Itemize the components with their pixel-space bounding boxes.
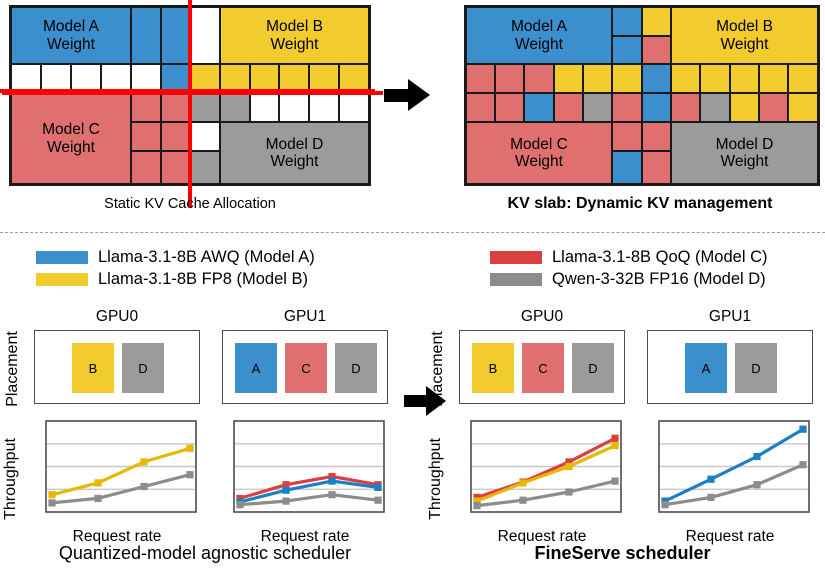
- placed-model-d: D: [735, 343, 777, 393]
- figure-root: Model AWeightModel BWeightModel CWeightM…: [0, 0, 825, 575]
- weight-block-line1: Model C: [42, 121, 100, 138]
- kv-cell: [279, 93, 309, 122]
- weight-block-line1: Model A: [511, 18, 567, 35]
- kv-cell: [612, 64, 642, 93]
- legend-label: Llama-3.1-8B QoQ (Model C): [552, 248, 768, 267]
- legend-swatch: [36, 273, 88, 286]
- kv-cell: [131, 122, 161, 151]
- kv-grid-right: Model AWeightModel BWeightModel CWeightM…: [464, 5, 820, 186]
- legend-item: Llama-3.1-8B AWQ (Model A): [36, 246, 315, 268]
- placement-box: AD: [647, 330, 813, 404]
- kv-cell: [642, 7, 671, 36]
- legend-left: Llama-3.1-8B AWQ (Model A)Llama-3.1-8B F…: [36, 246, 315, 290]
- y-axis-label-throughput-right: Throughput: [427, 438, 445, 520]
- kv-cell: [161, 93, 190, 122]
- right-arrow-top: [384, 78, 432, 112]
- throughput-chart-fineserve-gpu0: [459, 416, 625, 520]
- kv-cell: [495, 64, 524, 93]
- kv-cell: [612, 36, 642, 64]
- weight-block-line1: Model D: [266, 136, 324, 153]
- caption-static-kv: Static KV Cache Allocation: [9, 196, 371, 212]
- kv-cell: [612, 122, 642, 151]
- kv-cell: [554, 64, 583, 93]
- kv-cell: [642, 93, 671, 122]
- legend-item: Llama-3.1-8B FP8 (Model B): [36, 268, 315, 290]
- weight-block-line2: Weight: [515, 36, 563, 53]
- placed-model-d: D: [572, 343, 614, 393]
- y-axis-label-placement-left: Placement: [4, 331, 22, 407]
- weight-block-line2: Weight: [271, 153, 319, 170]
- weight-block-model-d: Model DWeight: [220, 122, 369, 184]
- weight-block-line1: Model A: [43, 18, 99, 35]
- weight-block-model-a: Model AWeight: [11, 7, 131, 64]
- weight-block-line1: Model B: [266, 18, 323, 35]
- placed-model-d: D: [122, 343, 164, 393]
- kv-cell: [131, 93, 161, 122]
- kv-cell: [700, 93, 730, 122]
- kv-slab-grid: Model AWeightModel BWeightModel CWeightM…: [464, 5, 820, 186]
- kv-cell: [583, 93, 612, 122]
- kv-cell: [788, 64, 818, 93]
- gpu-title-gpu1: GPU1: [222, 308, 388, 326]
- placement-box: BD: [34, 330, 200, 404]
- throughput-chart-agnostic-gpu1: [222, 416, 388, 520]
- placed-model-b: B: [72, 343, 114, 393]
- weight-block-line2: Weight: [271, 36, 319, 53]
- kv-cell: [161, 151, 190, 184]
- placed-model-b: B: [472, 343, 514, 393]
- kv-cell: [642, 151, 671, 184]
- placed-model-d: D: [335, 343, 377, 393]
- kv-cell: [131, 7, 161, 64]
- kv-cell: [612, 151, 642, 184]
- kv-cell: [161, 7, 190, 64]
- y-axis-label-throughput-left: Throughput: [2, 438, 20, 520]
- kv-cell: [554, 93, 583, 122]
- caption-agnostic-scheduler: Quantized-model agnostic scheduler: [0, 543, 410, 564]
- legend-right: Llama-3.1-8B QoQ (Model C)Qwen-3-32B FP1…: [490, 246, 768, 290]
- kv-cell: [309, 93, 339, 122]
- placed-model-c: C: [522, 343, 564, 393]
- weight-block-model-b: Model BWeight: [671, 7, 818, 64]
- kv-cell: [642, 122, 671, 151]
- caption-fineserve-scheduler: FineServe scheduler: [420, 543, 825, 564]
- placed-model-a: A: [685, 343, 727, 393]
- weight-block-line1: Model D: [716, 136, 774, 153]
- weight-block-model-c: Model CWeight: [466, 122, 612, 184]
- kv-cell: [466, 93, 495, 122]
- weight-block-line2: Weight: [47, 139, 95, 156]
- kv-cell: [671, 93, 700, 122]
- kv-cell: [642, 64, 671, 93]
- kv-cell: [759, 93, 788, 122]
- red-boundary-horizontal: [0, 89, 375, 93]
- kv-cell: [642, 36, 671, 64]
- legend-label: Qwen-3-32B FP16 (Model D): [552, 270, 766, 289]
- gpu-title-gpu0: GPU0: [459, 308, 625, 326]
- placement-box: ACD: [222, 330, 388, 404]
- kv-cell: [250, 93, 279, 122]
- placement-box: BCD: [459, 330, 625, 404]
- weight-block-line2: Weight: [515, 153, 563, 170]
- weight-block-model-a: Model AWeight: [466, 7, 612, 64]
- kv-cell: [612, 93, 642, 122]
- red-boundary-vertical: [188, 0, 192, 193]
- legend-swatch: [36, 251, 88, 264]
- kv-cell: [759, 64, 788, 93]
- legend-label: Llama-3.1-8B FP8 (Model B): [98, 270, 308, 289]
- weight-block-model-b: Model BWeight: [220, 7, 369, 64]
- gpu-title-gpu0: GPU0: [34, 308, 200, 326]
- legend-item: Llama-3.1-8B QoQ (Model C): [490, 246, 768, 268]
- kv-cell: [161, 122, 190, 151]
- weight-block-line1: Model B: [716, 18, 773, 35]
- weight-block-line1: Model C: [510, 136, 568, 153]
- caption-kv-slab: KV slab: Dynamic KV management: [455, 195, 825, 213]
- kv-cell: [524, 64, 554, 93]
- kv-cell: [612, 7, 642, 36]
- kv-cell: [466, 64, 495, 93]
- kv-cell: [671, 64, 700, 93]
- kv-cell: [339, 93, 369, 122]
- section-divider: [0, 232, 825, 233]
- kv-cell: [131, 151, 161, 184]
- right-arrow-bottom: [404, 385, 448, 417]
- placed-model-c: C: [285, 343, 327, 393]
- kv-cell: [700, 64, 730, 93]
- kv-cell: [190, 151, 220, 184]
- kv-cell: [190, 7, 220, 64]
- kv-cell: [190, 122, 220, 151]
- kv-cell: [583, 64, 612, 93]
- weight-block-line2: Weight: [47, 36, 95, 53]
- kv-cell: [730, 64, 759, 93]
- legend-label: Llama-3.1-8B AWQ (Model A): [98, 248, 315, 267]
- throughput-chart-agnostic-gpu0: [34, 416, 200, 520]
- placed-model-a: A: [235, 343, 277, 393]
- kv-cell: [524, 93, 554, 122]
- gpu-title-gpu1: GPU1: [647, 308, 813, 326]
- weight-block-model-d: Model DWeight: [671, 122, 818, 184]
- kv-cell: [730, 93, 759, 122]
- weight-block-line2: Weight: [721, 153, 769, 170]
- legend-item: Qwen-3-32B FP16 (Model D): [490, 268, 768, 290]
- kv-cell: [220, 93, 250, 122]
- kv-cell: [190, 93, 220, 122]
- legend-swatch: [490, 251, 542, 264]
- weight-block-model-c: Model CWeight: [11, 93, 131, 184]
- kv-cell: [788, 93, 818, 122]
- throughput-chart-fineserve-gpu1: [647, 416, 813, 520]
- kv-cell: [495, 93, 524, 122]
- weight-block-line2: Weight: [721, 36, 769, 53]
- legend-swatch: [490, 273, 542, 286]
